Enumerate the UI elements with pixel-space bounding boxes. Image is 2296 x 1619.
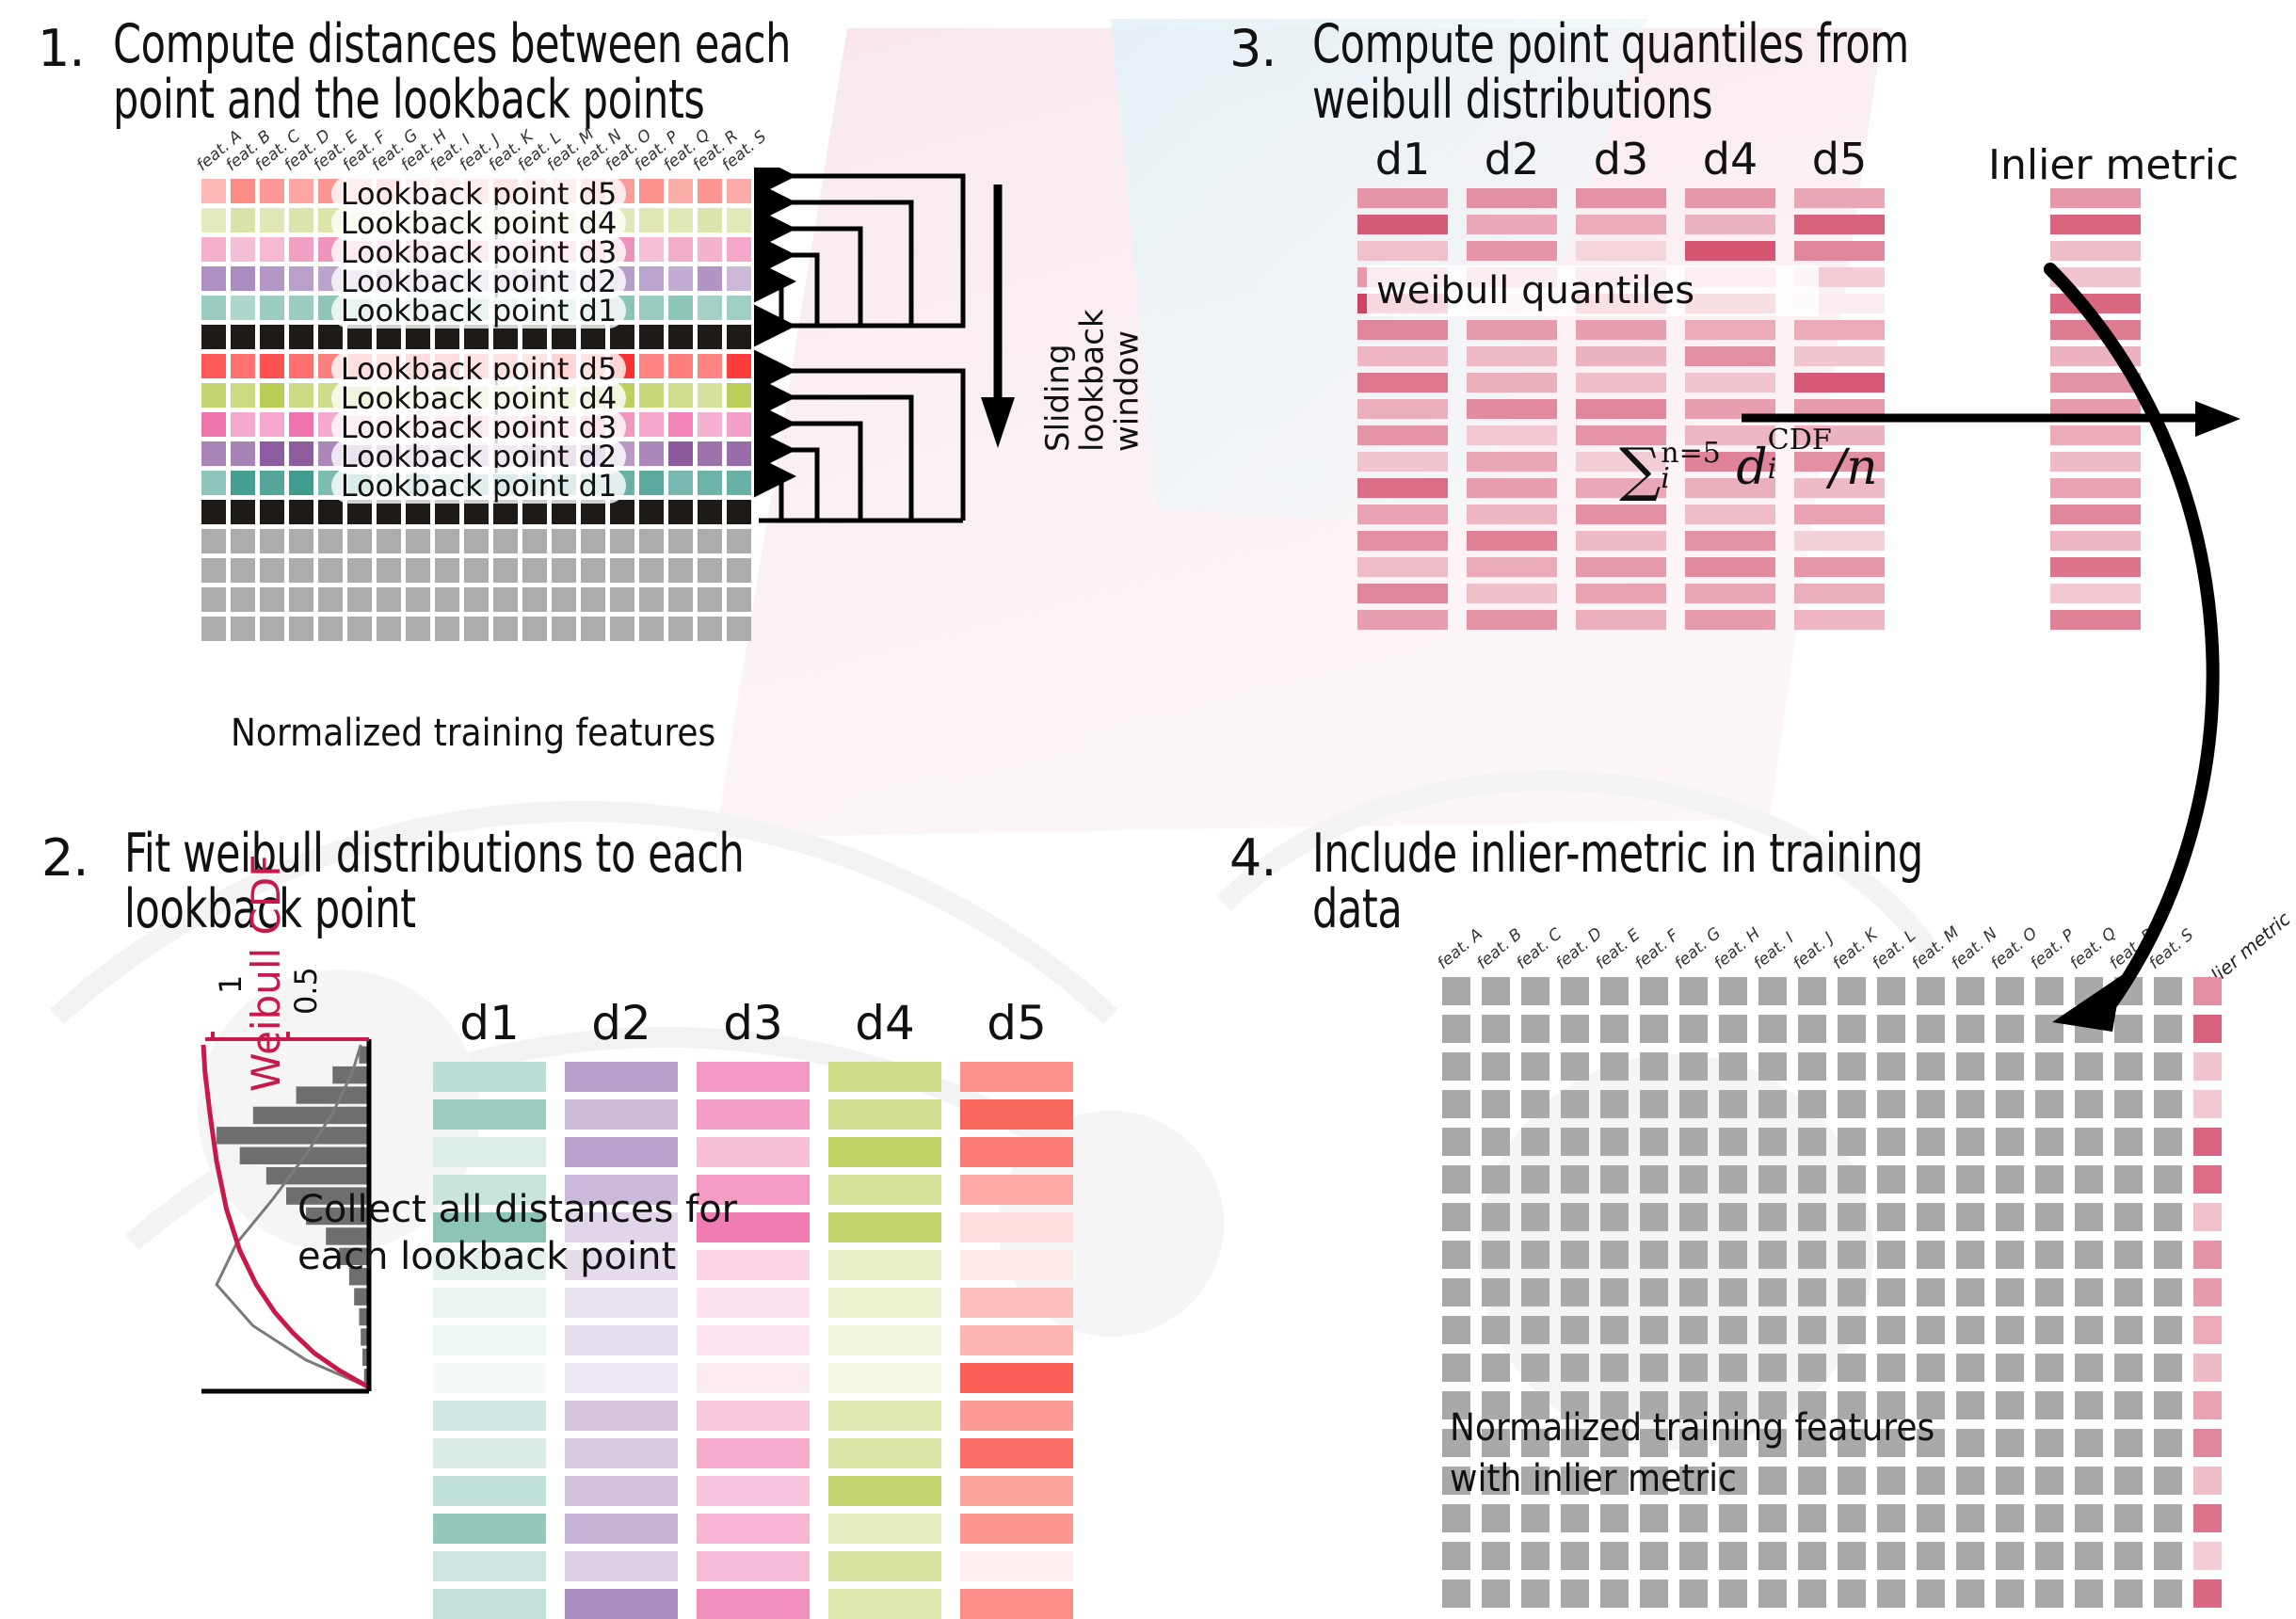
quantile-cell [1794, 346, 1885, 366]
feature-cell [522, 529, 547, 553]
panel-4-number: 4. [1229, 828, 1276, 888]
quantile-cell [1357, 425, 1448, 445]
feature-cell [2114, 1165, 2143, 1194]
feature-cell [347, 558, 372, 583]
distance-cell [828, 1099, 941, 1130]
distance-cell [828, 1476, 941, 1506]
panel-2-overlay-note: Collect all distances for each lookback … [297, 1186, 881, 1280]
feature-cell [1956, 1504, 1984, 1532]
distance-cell [433, 1551, 546, 1581]
feature-cell [1758, 1278, 1787, 1306]
feature-cell [1600, 1504, 1629, 1532]
quantile-cell [1576, 241, 1666, 261]
feature-cell [1561, 1165, 1589, 1194]
quantile-cell [1467, 452, 1557, 472]
inlier-metric-cell [2193, 1467, 2222, 1495]
feature-row [201, 529, 756, 553]
feature-cell [1996, 1090, 2024, 1118]
inlier-metric-transfer-arrow [1996, 235, 2296, 1082]
feature-cell [1956, 1015, 1984, 1043]
inlier-metric-cell [2193, 1203, 2222, 1231]
distance-cell [565, 1325, 678, 1355]
feature-cell [2154, 1090, 2182, 1118]
feature-label: feat. F [1631, 926, 1682, 973]
feature-cell [1996, 1203, 2024, 1231]
feature-cell [1877, 1015, 1905, 1043]
feature-cell [1956, 1316, 1984, 1344]
feature-cell [1561, 977, 1589, 1005]
feature-cell [1521, 1203, 1549, 1231]
feature-cell [1956, 1165, 1984, 1194]
feature-cell [1640, 1052, 1668, 1081]
feature-cell [464, 587, 489, 612]
feature-cell [1679, 1542, 1708, 1570]
feature-cell [1877, 1504, 1905, 1532]
distance-cell [433, 1288, 546, 1318]
feature-cell [1798, 1542, 1826, 1570]
distance-cell [697, 1514, 810, 1544]
feature-cell [1482, 1579, 1510, 1608]
feature-cell [435, 617, 459, 641]
feature-cell [1719, 1128, 1747, 1156]
feature-cell [2035, 1354, 2063, 1382]
lookback-row-label-text: Lookback point d1 [331, 293, 627, 329]
feature-cell [1561, 1128, 1589, 1156]
feature-cell [2075, 1391, 2103, 1419]
feature-cell [377, 617, 401, 641]
feature-cell [2035, 1316, 2063, 1344]
feature-cell [1798, 1165, 1826, 1194]
feature-cell [1679, 1128, 1708, 1156]
inlier-metric-cell [2193, 1391, 2222, 1419]
feature-cell [1956, 1354, 1984, 1382]
feature-cell [552, 587, 576, 612]
quantile-column-header: d5 [1794, 134, 1885, 184]
feature-cell [2035, 1128, 2063, 1156]
feature-cell [1758, 1090, 1787, 1118]
distance-cell [433, 1099, 546, 1130]
feature-cell [1917, 1354, 1945, 1382]
feature-cell [347, 587, 372, 612]
feature-cell [2154, 1467, 2182, 1495]
feature-row [1442, 1241, 2233, 1269]
feature-cell [1442, 1203, 1470, 1231]
feature-cell [1917, 1128, 1945, 1156]
feature-cell [1561, 1316, 1589, 1344]
quantile-cell [1794, 215, 1885, 234]
feature-cell [668, 558, 693, 583]
feature-cell [1838, 1052, 1866, 1081]
feature-cell [1640, 1316, 1668, 1344]
feature-cell [1838, 1015, 1866, 1043]
quantile-cell [1357, 241, 1448, 261]
feature-cell [639, 558, 664, 583]
feature-cell [289, 587, 313, 612]
feature-cell [522, 558, 547, 583]
feature-cell [1798, 1241, 1826, 1269]
feature-cell [2114, 1128, 2143, 1156]
feature-cell [1798, 1052, 1826, 1081]
distance-cell [565, 1099, 678, 1130]
feature-cell [1877, 1165, 1905, 1194]
feature-cell [668, 617, 693, 641]
feature-cell [1877, 1278, 1905, 1306]
quantile-column-header: d2 [1467, 134, 1557, 184]
feature-cell [1917, 1203, 1945, 1231]
feature-cell [377, 587, 401, 612]
distance-cell [433, 1325, 546, 1355]
panel-3-overlay-note: weibull quantiles [1367, 265, 1819, 316]
distance-cell [565, 1476, 678, 1506]
feature-cell [1442, 1241, 1470, 1269]
feature-cell [1877, 1241, 1905, 1269]
feature-cell [698, 587, 722, 612]
feature-cell [1482, 1015, 1510, 1043]
distance-column-header: d2 [565, 996, 678, 1050]
feature-cell [1561, 1052, 1589, 1081]
feature-cell [1640, 1278, 1668, 1306]
feature-cell [289, 558, 313, 583]
quantile-cell [1357, 452, 1448, 472]
feature-cell [1521, 1316, 1549, 1344]
feature-cell [1956, 1203, 1984, 1231]
feature-cell [1917, 1542, 1945, 1570]
feature-cell [1758, 1015, 1787, 1043]
quantile-cell [1685, 584, 1775, 603]
feature-cell [1521, 1165, 1549, 1194]
feature-cell [1442, 1165, 1470, 1194]
feature-cell [1442, 1090, 1470, 1118]
distance-cell [433, 1438, 546, 1468]
feature-cell [1521, 1278, 1549, 1306]
feature-cell [1719, 1579, 1747, 1608]
feature-cell [1600, 1542, 1629, 1570]
quantile-cell [1576, 215, 1666, 234]
quantile-cell [1357, 215, 1448, 234]
feature-cell [377, 558, 401, 583]
feature-cell [1838, 1354, 1866, 1382]
feature-cell [201, 558, 226, 583]
feature-cell [2154, 1391, 2182, 1419]
feature-cell [201, 529, 226, 553]
feature-cell [552, 529, 576, 553]
panel-2-title: Fit weibull distributions to each lookba… [124, 826, 868, 937]
feature-cell [1600, 1316, 1629, 1344]
distance-cell [697, 1551, 810, 1581]
feature-row [1442, 1316, 2233, 1344]
feature-label: feat. B [1473, 925, 1526, 973]
feature-cell [2075, 1090, 2103, 1118]
feature-cell [406, 529, 430, 553]
feature-cell [1996, 1241, 2024, 1269]
feature-cell [2114, 1579, 2143, 1608]
distance-cell [960, 1589, 1073, 1619]
feature-cell [2035, 1542, 2063, 1570]
feature-cell [2035, 1203, 2063, 1231]
feature-cell [1482, 1504, 1510, 1532]
feature-cell [1679, 1504, 1708, 1532]
feature-cell [318, 587, 343, 612]
distance-cell [960, 1099, 1073, 1130]
feature-cell [1917, 1504, 1945, 1532]
quantile-cell [1576, 373, 1666, 393]
feature-cell [1917, 1241, 1945, 1269]
quantile-cell [1685, 188, 1775, 208]
quantile-column-header: d4 [1685, 134, 1775, 184]
feature-cell [2154, 1165, 2182, 1194]
feature-cell [698, 617, 722, 641]
feature-cell [639, 529, 664, 553]
distance-cell [565, 1288, 678, 1318]
feature-cell [1758, 1052, 1787, 1081]
feature-cell [2154, 1203, 2182, 1231]
feature-cell [1838, 1579, 1866, 1608]
feature-cell [1956, 1128, 1984, 1156]
feature-cell [231, 587, 255, 612]
distance-cell [433, 1363, 546, 1393]
feature-cell [2154, 1542, 2182, 1570]
distance-cell [960, 1363, 1073, 1393]
feature-cell [1956, 1579, 1984, 1608]
feature-cell [1640, 1241, 1668, 1269]
inlier-metric-cell [2193, 1579, 2222, 1608]
feature-cell [464, 529, 489, 553]
feature-cell [2075, 1165, 2103, 1194]
feature-cell [1442, 1015, 1470, 1043]
feature-cell [289, 617, 313, 641]
feature-cell [231, 558, 255, 583]
lookback-row-label-text: Lookback point d1 [331, 468, 627, 504]
panel-1: 1. Compute distances between each point … [0, 0, 1148, 791]
panel-4-title: Include inlier-metric in training data [1312, 826, 2103, 937]
quantile-cell [1357, 478, 1448, 498]
quantile-cell [1357, 346, 1448, 366]
feature-cell [1996, 1165, 2024, 1194]
feature-cell [464, 558, 489, 583]
feature-cell [2075, 1316, 2103, 1344]
quantile-column-header: d3 [1576, 134, 1666, 184]
feature-cell [2154, 1504, 2182, 1532]
feature-cell [1956, 1542, 1984, 1570]
distance-cell [565, 1551, 678, 1581]
feature-cell [1640, 1542, 1668, 1570]
feature-cell [1561, 1354, 1589, 1382]
distance-cell [565, 1589, 678, 1619]
feature-cell [1917, 1165, 1945, 1194]
feature-cell [1482, 977, 1510, 1005]
feature-cell [1482, 1165, 1510, 1194]
sliding-window-arrow [970, 179, 1026, 452]
feature-cell [522, 617, 547, 641]
feature-cell [1838, 1241, 1866, 1269]
feature-cell [1521, 1504, 1549, 1532]
feature-cell [1877, 1354, 1905, 1382]
feature-cell [2114, 1542, 2143, 1570]
feature-cell [1838, 1203, 1866, 1231]
feature-cell [1561, 1203, 1589, 1231]
feature-cell [2114, 1354, 2143, 1382]
feature-cell [1798, 977, 1826, 1005]
quantile-cell [1357, 584, 1448, 603]
distance-cell [433, 1401, 546, 1431]
quantile-cell [1357, 373, 1448, 393]
distance-column-header: d1 [433, 996, 546, 1050]
feature-cell [1640, 1354, 1668, 1382]
inlier-metric-formula: ∑n=5i dCDFi/n [1619, 435, 1878, 504]
feature-cell [610, 558, 634, 583]
feature-cell [1640, 977, 1668, 1005]
feature-cell [1640, 1165, 1668, 1194]
feature-cell [1798, 1128, 1826, 1156]
feature-cell [639, 617, 664, 641]
quantile-cell [1467, 610, 1557, 630]
feature-cell [727, 617, 751, 641]
feature-cell [1600, 1052, 1629, 1081]
feature-cell [260, 529, 284, 553]
feature-cell [1442, 1316, 1470, 1344]
panel-2-number: 2. [41, 828, 88, 888]
feature-cell [1679, 1278, 1708, 1306]
feature-cell [260, 558, 284, 583]
quantile-cell [1794, 241, 1885, 261]
feature-cell [1956, 1090, 1984, 1118]
quantile-cell [1685, 557, 1775, 577]
feature-cell [1838, 1542, 1866, 1570]
distance-column-header: d3 [697, 996, 810, 1050]
feature-cell [2075, 1542, 2103, 1570]
feature-cell [1996, 1278, 2024, 1306]
distance-cell [960, 1062, 1073, 1092]
feature-cell [581, 558, 605, 583]
panel-4-caption: Normalized training features with inlier… [1450, 1403, 2060, 1504]
feature-cell [1521, 1128, 1549, 1156]
quantile-cell [1467, 188, 1557, 208]
feature-cell [231, 617, 255, 641]
feature-cell [698, 558, 722, 583]
quantile-cell [1467, 557, 1557, 577]
feature-cell [1917, 1316, 1945, 1344]
feature-cell [1561, 1241, 1589, 1269]
feature-cell [1482, 1090, 1510, 1118]
feature-cell [1838, 1165, 1866, 1194]
feature-cell [581, 529, 605, 553]
feature-cell [1798, 1278, 1826, 1306]
feature-row [1442, 1203, 2233, 1231]
distance-cell [433, 1062, 546, 1092]
inlier-metric-cell [2193, 1354, 2222, 1382]
feature-cell [2154, 1278, 2182, 1306]
feature-cell [581, 617, 605, 641]
feature-cell [552, 558, 576, 583]
lookback-row-label: Lookback point d1 [201, 468, 756, 504]
quantile-cell [1794, 188, 1885, 208]
quantile-cell [1685, 346, 1775, 366]
feature-cell [1600, 1090, 1629, 1118]
feature-cell [1521, 977, 1549, 1005]
feature-cell [406, 617, 430, 641]
feature-cell [1798, 1354, 1826, 1382]
feature-row [1442, 1579, 2233, 1608]
inlier-metric-cell [2193, 1090, 2222, 1118]
feature-cell [2114, 1429, 2143, 1457]
feature-cell [2075, 1579, 2103, 1608]
feature-cell [1838, 977, 1866, 1005]
feature-cell [1838, 1128, 1866, 1156]
feature-cell [1521, 1542, 1549, 1570]
feature-cell [639, 587, 664, 612]
quantile-cell [1685, 610, 1775, 630]
feature-cell [1798, 1203, 1826, 1231]
feature-cell [464, 617, 489, 641]
distance-cell [565, 1363, 678, 1393]
feature-cell [1640, 1090, 1668, 1118]
feature-cell [1521, 1354, 1549, 1382]
feature-cell [1838, 1278, 1866, 1306]
feature-cell [1917, 1579, 1945, 1608]
feature-cell [1482, 1316, 1510, 1344]
inlier-metric-cell [2193, 1316, 2222, 1344]
feature-row [1442, 1354, 2233, 1382]
quantile-cell [1685, 505, 1775, 524]
feature-cell [2075, 1354, 2103, 1382]
feature-cell [1996, 1128, 2024, 1156]
feature-cell [1917, 1015, 1945, 1043]
feature-cell [1719, 1278, 1747, 1306]
feature-cell [1600, 1015, 1629, 1043]
feature-cell [1442, 1504, 1470, 1532]
feature-cell [1956, 1052, 1984, 1081]
distance-cell [433, 1476, 546, 1506]
feature-cell [1442, 1128, 1470, 1156]
feature-cell [1442, 1579, 1470, 1608]
feature-cell [406, 558, 430, 583]
feature-cell [1561, 1542, 1589, 1570]
distance-cell [433, 1514, 546, 1544]
feature-cell [1719, 1165, 1747, 1194]
feature-cell [1679, 1316, 1708, 1344]
feature-cell [1719, 1316, 1747, 1344]
panel-2: 2. Fit weibull distributions to each loo… [0, 809, 1148, 1596]
quantile-cell [1576, 399, 1666, 419]
feature-cell [1521, 1579, 1549, 1608]
histogram-bar [297, 1086, 369, 1103]
feature-cell [2035, 1579, 2063, 1608]
feature-cell [1679, 1165, 1708, 1194]
panel-1-title: Compute distances between each point and… [113, 17, 825, 127]
feature-cell [493, 587, 518, 612]
quantile-cell [1794, 610, 1885, 630]
quantile-cell [1467, 584, 1557, 603]
quantile-cell [1357, 188, 1448, 208]
feature-cell [1561, 1278, 1589, 1306]
feature-cell [1679, 1203, 1708, 1231]
feature-cell [1482, 1278, 1510, 1306]
feature-cell [2035, 1241, 2063, 1269]
distance-cell [960, 1175, 1073, 1205]
feature-cell [1482, 1203, 1510, 1231]
distance-cell [828, 1401, 941, 1431]
feature-cell [1679, 1052, 1708, 1081]
distance-cell [828, 1288, 941, 1318]
feature-row [1442, 1542, 2233, 1570]
distance-cell [565, 1062, 678, 1092]
histogram-bar [253, 1107, 369, 1124]
quantile-cell [1357, 320, 1448, 340]
quantile-cell [1576, 505, 1666, 524]
feature-cell [1640, 1504, 1668, 1532]
distance-cell [960, 1137, 1073, 1167]
feature-cell [668, 587, 693, 612]
